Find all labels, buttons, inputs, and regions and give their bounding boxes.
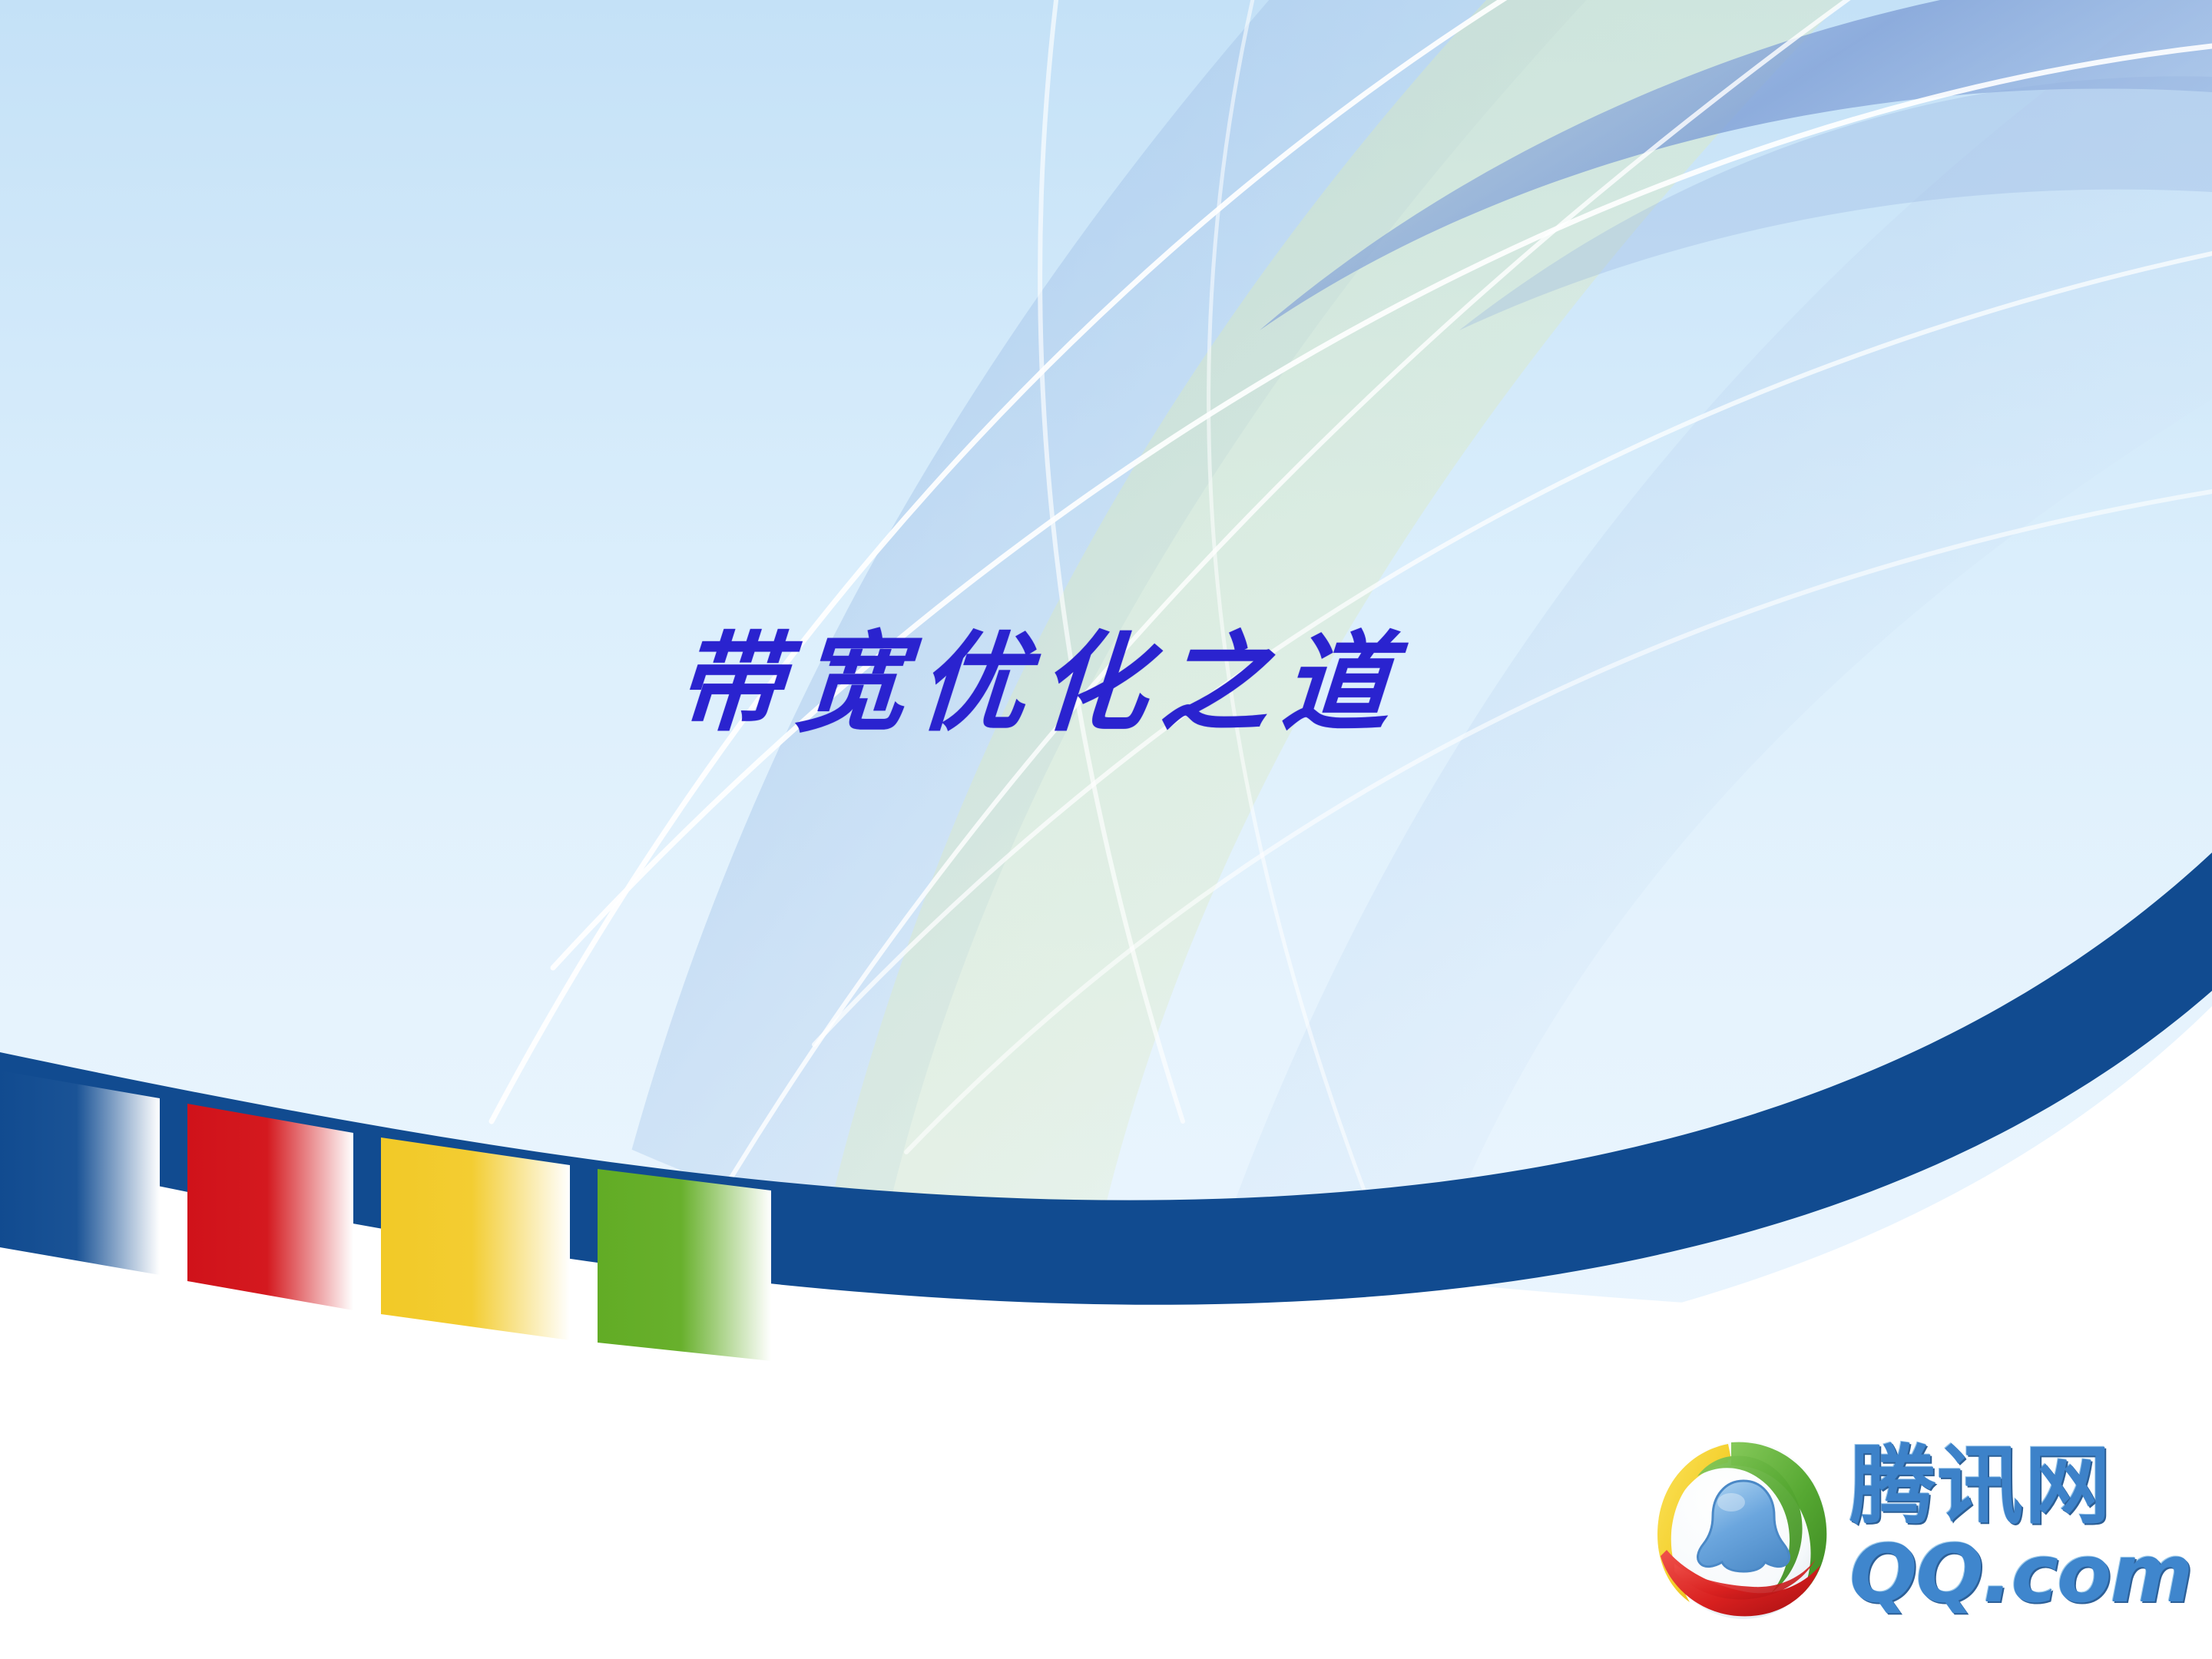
swatch-red (187, 1104, 353, 1310)
swatch-green (598, 1169, 771, 1361)
penguin-highlight (1717, 1493, 1745, 1512)
title-block: 带宽优化之道 (676, 614, 1598, 753)
logo-wordmark: 腾讯网 QQ.com (1849, 1443, 2192, 1614)
logo-domain-text: QQ.com (1849, 1534, 2192, 1614)
slide-background (0, 0, 2212, 1659)
page-title: 带宽优化之道 (672, 630, 1408, 737)
swatch-blue (0, 1071, 160, 1275)
swatch-yellow (381, 1137, 570, 1340)
qq-com-logo[interactable]: 腾讯网 QQ.com (1651, 1429, 2189, 1628)
qq-logo-mark (1651, 1436, 1836, 1621)
title-slide: 带宽优化之道 (0, 0, 2212, 1659)
logo-chinese-text: 腾讯网 (1849, 1443, 2192, 1529)
